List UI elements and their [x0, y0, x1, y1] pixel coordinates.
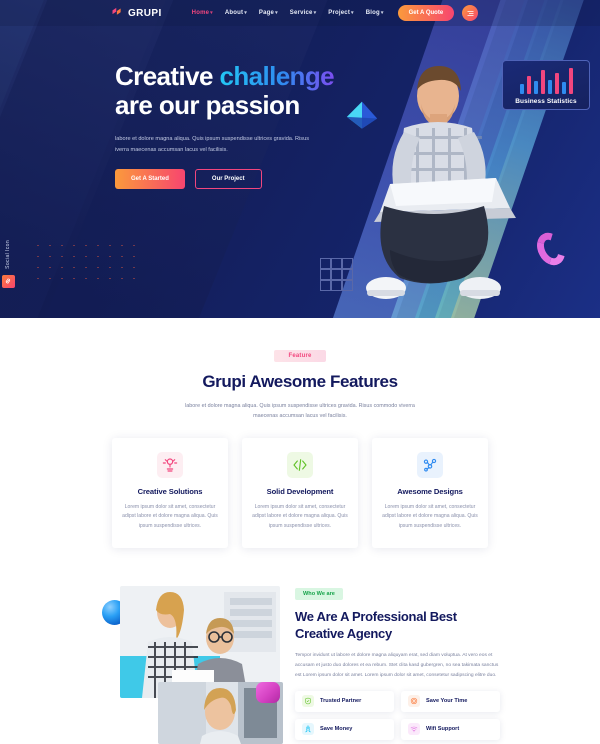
nav-link-blog[interactable]: Blog▾ [366, 10, 384, 16]
nav-link-home[interactable]: Home▾ [192, 10, 213, 16]
feature-card-title: Creative Solutions [122, 487, 218, 496]
chevron-down-icon: ▾ [244, 10, 247, 16]
statistics-bar-chart [508, 68, 584, 94]
about-feature-item[interactable]: Trusted Partner [295, 691, 394, 712]
chevron-down-icon: ▾ [381, 10, 384, 16]
dot-grid-decoration [32, 240, 142, 288]
target-icon [408, 695, 420, 707]
social-sidebar: Social Icon [0, 240, 16, 288]
social-sidebar-label: Social Icon [5, 240, 11, 269]
main-navigation: GRUPI Home▾About▾Page▾Service▾Project▾Bl… [0, 0, 600, 26]
about-badge: Who We are [295, 588, 343, 600]
feature-card[interactable]: Awesome DesignsLorem ipsum dolor sit ame… [372, 438, 488, 549]
awesome-designs-icon [417, 452, 443, 478]
brand-logo[interactable]: GRUPI [110, 6, 162, 21]
feature-card-title: Awesome Designs [382, 487, 478, 496]
statistics-bar [534, 81, 538, 94]
solid-development-icon [287, 452, 313, 478]
about-feature-list: Trusted PartnerSave Your TimeSave MoneyW… [295, 691, 500, 740]
about-feature-label: Trusted Partner [320, 698, 361, 704]
hero-person-photo [320, 52, 530, 318]
feature-card-description: Lorem ipsum dolor sit amet, consectetur … [252, 503, 348, 533]
nav-links: Home▾About▾Page▾Service▾Project▾Blog▾ [192, 10, 384, 16]
about-description: Tempor invidunt ut labore et dolore magn… [295, 651, 500, 680]
about-feature-label: Save Money [320, 726, 352, 732]
get-started-button[interactable]: Get A Started [115, 169, 185, 189]
hero-title-line2: are our passion [115, 90, 300, 120]
our-project-button[interactable]: Our Project [195, 169, 262, 189]
nav-link-label: Home [192, 10, 209, 16]
feature-card-description: Lorem ipsum dolor sit amet, consectetur … [122, 503, 218, 533]
statistics-bar [520, 84, 524, 94]
feature-card[interactable]: Creative SolutionsLorem ipsum dolor sit … [112, 438, 228, 549]
about-section: Who We are We Are A Professional Best Cr… [0, 556, 600, 739]
nav-link-about[interactable]: About▾ [225, 10, 247, 16]
hero-title-line1-plain: Creative [115, 61, 219, 91]
chevron-down-icon: ▾ [314, 10, 317, 16]
get-a-quote-button[interactable]: Get A Quote [398, 5, 455, 21]
nav-link-label: Page [259, 10, 274, 16]
pink-arc-decoration [532, 228, 571, 270]
nav-link-service[interactable]: Service▾ [290, 10, 316, 16]
about-feature-item[interactable]: Save Your Time [401, 691, 500, 712]
nav-link-label: Service [290, 10, 313, 16]
features-description: labore et dolore magna aliqua. Quis ipsu… [175, 401, 425, 422]
wifi-icon [408, 723, 420, 735]
business-statistics-card: Business Statistics [502, 60, 590, 110]
nav-link-project[interactable]: Project▾ [328, 10, 353, 16]
pink-cylinder-decoration [256, 682, 280, 703]
rocket-icon [302, 723, 314, 735]
creative-solutions-icon [157, 452, 183, 478]
shield-icon [302, 695, 314, 707]
about-feature-item[interactable]: Wifi Support [401, 719, 500, 740]
statistics-bar [548, 80, 552, 94]
pyramid-decoration [345, 100, 379, 132]
nav-link-label: Blog [366, 10, 380, 16]
statistics-bar [569, 68, 573, 94]
link-icon[interactable] [2, 275, 15, 288]
hero-title-accent: challenge [219, 61, 334, 91]
feature-card-title: Solid Development [252, 487, 348, 496]
statistics-bar [555, 73, 559, 94]
features-section: Feature Grupi Awesome Features labore et… [0, 318, 600, 556]
statistics-label: Business Statistics [508, 98, 584, 105]
hero-description: labore et dolore magna aliqua. Quis ipsu… [115, 134, 315, 155]
features-badge: Feature [274, 350, 325, 362]
feature-card-description: Lorem ipsum dolor sit amet, consectetur … [382, 503, 478, 533]
nav-link-label: Project [328, 10, 350, 16]
about-content: Who We are We Are A Professional Best Cr… [295, 578, 500, 739]
feature-card[interactable]: Solid DevelopmentLorem ipsum dolor sit a… [242, 438, 358, 549]
about-title: We Are A Professional Best Creative Agen… [295, 609, 500, 643]
statistics-bar [527, 76, 531, 94]
nav-link-page[interactable]: Page▾ [259, 10, 278, 16]
about-feature-item[interactable]: Save Money [295, 719, 394, 740]
features-title: Grupi Awesome Features [0, 372, 600, 392]
brand-name: GRUPI [128, 8, 162, 19]
statistics-bar [541, 70, 545, 94]
statistics-bar [562, 82, 566, 94]
nav-link-label: About [225, 10, 243, 16]
chevron-down-icon: ▾ [275, 10, 278, 16]
chevron-down-icon: ▾ [351, 10, 354, 16]
about-feature-label: Wifi Support [426, 726, 459, 732]
hero-section: GRUPI Home▾About▾Page▾Service▾Project▾Bl… [0, 0, 600, 318]
about-media-collage [98, 578, 283, 728]
chevron-down-icon: ▾ [210, 10, 213, 16]
about-feature-label: Save Your Time [426, 698, 467, 704]
hamburger-icon[interactable] [462, 5, 478, 21]
logo-mark-icon [110, 6, 125, 21]
feature-card-list: Creative SolutionsLorem ipsum dolor sit … [0, 438, 600, 549]
